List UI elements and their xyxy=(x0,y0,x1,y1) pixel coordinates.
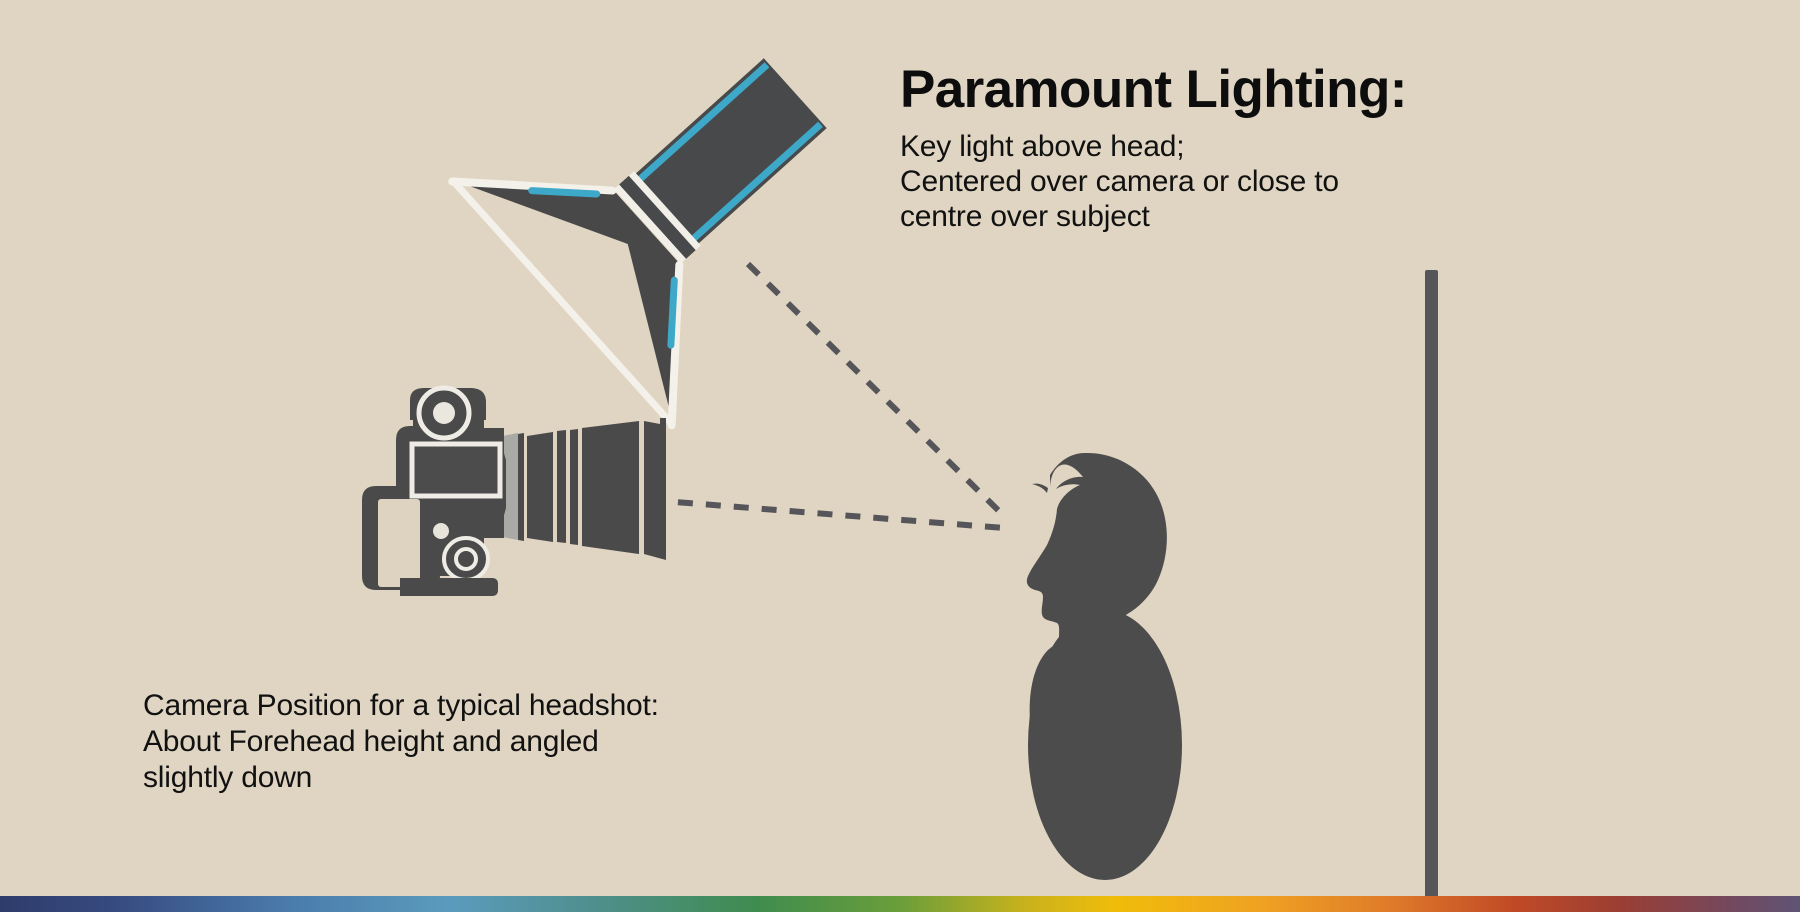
camera-position-note: Camera Position for a typical headshot: … xyxy=(143,688,659,796)
lighting-diagram-canvas: Paramount Lighting: Key light above head… xyxy=(0,0,1800,912)
subtitle-text: Key light above head; Centered over came… xyxy=(900,129,1520,234)
subject-hair-tuft xyxy=(1032,484,1048,493)
paramount-lighting-text-block: Paramount Lighting: Key light above head… xyxy=(900,62,1520,234)
page-title: Paramount Lighting: xyxy=(900,62,1520,118)
subtitle-line-2: Centered over camera or close to xyxy=(900,164,1520,199)
color-spectrum-strip xyxy=(0,896,1800,912)
subject-head-profile xyxy=(1027,453,1167,657)
camera-note-line-1: Camera Position for a typical headshot: xyxy=(143,688,659,724)
subtitle-line-3: centre over subject xyxy=(900,199,1520,234)
camera-note-line-2: About Forehead height and angled xyxy=(143,724,659,760)
camera-note-line-3: slightly down xyxy=(143,760,659,796)
subtitle-line-1: Key light above head; xyxy=(900,129,1520,164)
